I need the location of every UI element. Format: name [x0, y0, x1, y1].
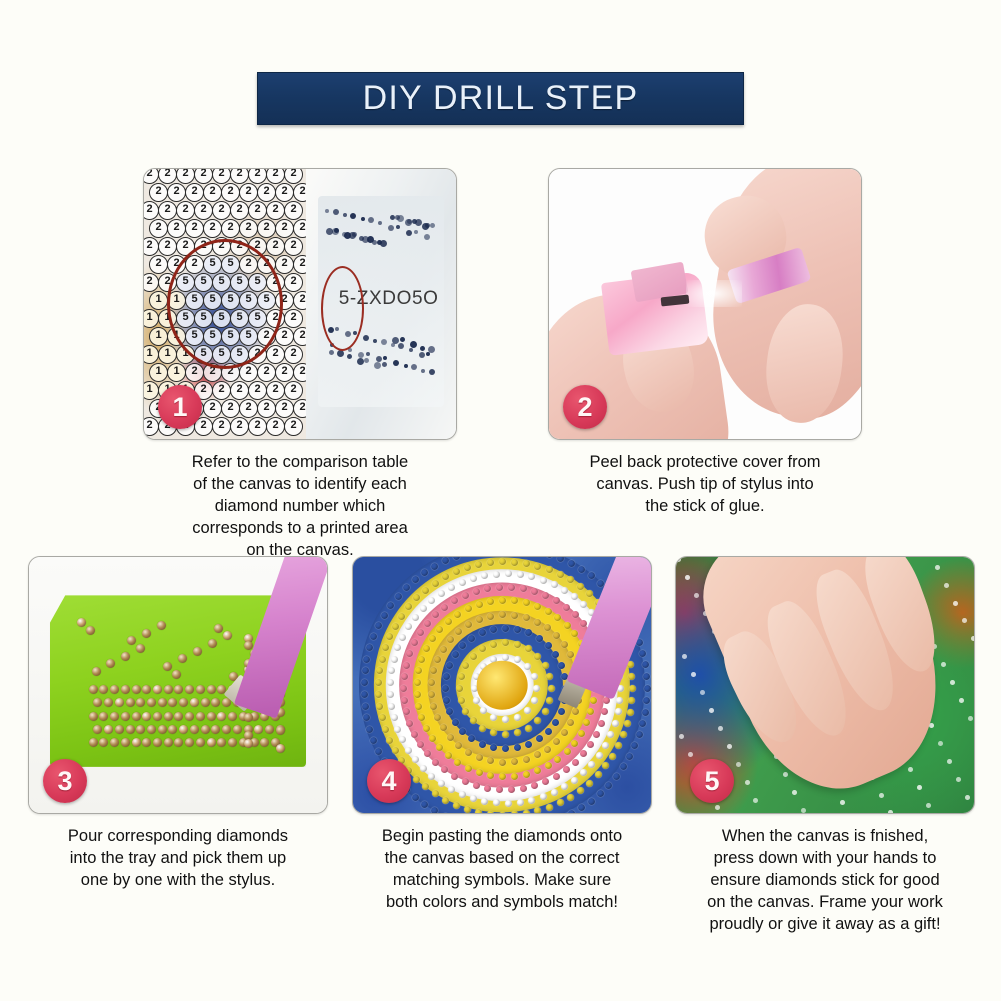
- step-3-photo: 3: [28, 556, 328, 814]
- step-card-3: 3 Pour corresponding diamonds into the t…: [28, 556, 328, 891]
- mandala-bead: [429, 635, 436, 642]
- diamond-drill: [104, 725, 113, 734]
- diamond-speck: [736, 762, 741, 767]
- mandala-bead: [414, 679, 421, 686]
- mandala-bead: [568, 560, 575, 567]
- mandala-bead: [382, 726, 389, 733]
- mandala-bead: [412, 576, 419, 583]
- drill-bead: [383, 356, 387, 360]
- mandala-bead: [612, 720, 619, 727]
- drill-bead: [329, 350, 334, 355]
- canvas-symbol-dot: 2: [158, 169, 177, 184]
- canvas-symbol-dot: 2: [275, 183, 294, 202]
- step-number-3: 3: [57, 768, 72, 795]
- drill-bead: [409, 348, 413, 352]
- step-number-1: 1: [172, 394, 187, 421]
- drill-bead: [380, 240, 387, 247]
- mandala-bead: [420, 605, 427, 612]
- diamond-drill: [185, 712, 194, 721]
- mandala-bead: [644, 685, 651, 692]
- drill-bead: [334, 228, 339, 233]
- diamond-drill: [208, 639, 217, 648]
- mandala-bead: [442, 557, 449, 564]
- canvas-symbol-dot: 2: [221, 399, 240, 418]
- mandala-center-gem: [477, 661, 528, 710]
- mandala-bead: [557, 571, 564, 578]
- diamond-drill: [132, 712, 141, 721]
- diamond-speck: [745, 780, 750, 785]
- mandala-bead: [502, 625, 509, 632]
- mandala-bead: [499, 759, 506, 766]
- mandala-bead: [561, 587, 568, 594]
- mandala-bead: [459, 791, 466, 798]
- mandala-bead: [514, 744, 521, 751]
- mandala-bead: [417, 741, 424, 748]
- step-1-caption: Refer to the comparison table of the can…: [143, 451, 457, 562]
- canvas-symbol-dot: 2: [212, 381, 231, 400]
- mandala-bead: [432, 580, 439, 587]
- drill-bead: [420, 346, 425, 351]
- canvas-symbol-dot: 1: [144, 381, 159, 400]
- diamond-drill: [196, 685, 205, 694]
- canvas-symbol-dot: 2: [284, 345, 303, 364]
- drill-bead: [343, 213, 347, 217]
- mandala-bead: [511, 559, 518, 566]
- diamond-drill: [142, 712, 151, 721]
- mandala-bead: [465, 749, 472, 756]
- mandala-bead: [624, 720, 631, 727]
- step-4-photo: 4: [352, 556, 652, 814]
- mandala-bead: [403, 584, 410, 591]
- mandala-bead: [557, 557, 564, 562]
- mandala-bead: [502, 731, 509, 738]
- mandala-bead: [511, 773, 518, 780]
- drill-bead: [361, 217, 365, 221]
- diamond-speck: [753, 798, 758, 803]
- step-3-caption: Pour corresponding diamonds into the tra…: [28, 825, 328, 891]
- drill-bag-image: 5-ZXDO5O: [306, 169, 456, 439]
- drill-bead: [410, 341, 417, 348]
- mandala-bead: [523, 771, 530, 778]
- diamond-drill: [115, 725, 124, 734]
- mandala-bead: [476, 601, 483, 608]
- mandala-bead: [536, 735, 543, 742]
- mandala-bead: [431, 807, 438, 813]
- mandala-bead: [490, 626, 497, 633]
- drill-bead: [391, 343, 395, 347]
- canvas-symbol-dot: 2: [212, 201, 231, 220]
- canvas-symbol-dot: 2: [144, 237, 159, 256]
- mandala-bead: [523, 810, 530, 813]
- diamond-speck: [908, 767, 913, 772]
- mandala-bead: [533, 685, 540, 692]
- mandala-bead: [514, 641, 521, 648]
- mandala-bead: [572, 611, 579, 618]
- mandala-bead: [391, 714, 398, 721]
- drill-bead: [414, 230, 418, 234]
- step-card-5: 5 When the canvas is fnished, press down…: [675, 556, 975, 936]
- mandala-bead: [627, 709, 634, 716]
- mandala-bead: [642, 661, 649, 668]
- mandala-bead: [493, 571, 500, 578]
- mandala-bead: [578, 804, 585, 811]
- mandala-bead: [379, 656, 386, 663]
- mandala-bead: [546, 697, 553, 704]
- mandala-bead: [395, 593, 402, 600]
- mandala-bead: [545, 728, 552, 735]
- mandala-bead: [511, 597, 518, 604]
- mandala-bead: [399, 634, 406, 641]
- canvas-symbol-dot: 2: [144, 417, 159, 436]
- drill-bead: [415, 219, 422, 226]
- mandala-bead: [413, 776, 420, 783]
- mandala-bead: [643, 673, 650, 680]
- canvas-symbol-dot: 2: [266, 201, 285, 220]
- mandala-bead: [514, 729, 521, 736]
- mandala-bead: [523, 756, 530, 763]
- step-card-2: 2 Peel back protective cover from canvas…: [548, 168, 862, 517]
- drill-bead: [333, 209, 339, 215]
- mandala-bead: [447, 636, 454, 643]
- mandala-bead: [557, 799, 564, 806]
- diamond-drill: [214, 624, 223, 633]
- mandala-bead: [580, 620, 587, 627]
- diamond-speck: [971, 636, 974, 641]
- canvas-symbol-dot: 2: [221, 183, 240, 202]
- step-5-caption: When the canvas is fnished, press down w…: [675, 825, 975, 936]
- diamond-speck: [688, 752, 693, 757]
- mandala-bead: [511, 758, 518, 765]
- canvas-symbol-dot: 2: [284, 273, 303, 292]
- diamond-drill: [244, 739, 253, 748]
- canvas-symbol-dot: 2: [266, 417, 285, 436]
- drill-bead: [393, 360, 399, 366]
- diamond-speck: [888, 810, 893, 813]
- mandala-bead: [511, 811, 518, 813]
- mandala-bead: [440, 724, 447, 731]
- diamond-drill: [153, 685, 162, 694]
- mandala-bead: [459, 728, 466, 735]
- diamond-speck: [962, 618, 967, 623]
- diamond-speck: [968, 716, 973, 721]
- canvas-symbol-dot: 2: [257, 219, 276, 238]
- mandala-bead: [523, 599, 530, 606]
- canvas-symbol-dot: 2: [144, 169, 159, 184]
- mandala-bead: [508, 584, 515, 591]
- diamond-drill: [207, 685, 216, 694]
- step-1-photo: 2222222222222222222222222222222222222222…: [143, 168, 457, 440]
- mandala-bead: [424, 620, 431, 627]
- mandala-bead: [465, 765, 472, 772]
- mandala-bead: [462, 592, 469, 599]
- drill-bead: [381, 339, 387, 345]
- diamond-speck: [959, 698, 964, 703]
- drill-bead: [424, 234, 430, 240]
- diamond-drill: [223, 631, 232, 640]
- mandala-bead: [420, 765, 427, 772]
- mandala-bead: [401, 697, 408, 704]
- diamond-drill: [193, 647, 202, 656]
- canvas-symbol-dot: 2: [158, 201, 177, 220]
- canvas-symbol-dot: 2: [275, 363, 294, 382]
- mandala-bead: [523, 560, 530, 567]
- canvas-symbol-dot: 2: [185, 219, 204, 238]
- mandala-bead: [387, 691, 394, 698]
- mandala-bead: [505, 800, 512, 807]
- step-card-1: 2222222222222222222222222222222222222222…: [143, 168, 457, 562]
- mandala-bead: [597, 790, 604, 797]
- mandala-bead: [414, 691, 421, 698]
- canvas-symbol-dot: 2: [167, 219, 186, 238]
- mandala-bead: [479, 725, 486, 732]
- diamond-speck: [715, 805, 720, 810]
- canvas-symbol-dot: 1: [167, 363, 186, 382]
- mandala-bead: [558, 708, 565, 715]
- mandala-bead: [517, 571, 524, 578]
- mandala-bead: [446, 662, 453, 669]
- canvas-symbol-dot: 2: [266, 345, 285, 364]
- mandala-bead: [629, 685, 636, 692]
- mandala-bead: [531, 588, 538, 595]
- diamond-speck: [965, 795, 970, 800]
- drill-bead: [388, 225, 394, 231]
- drill-bead: [430, 223, 435, 228]
- mandala-bead: [642, 709, 649, 716]
- mandala-bead: [548, 685, 555, 692]
- diamond-drill: [196, 712, 205, 721]
- mandala-bead: [545, 762, 552, 769]
- mandala-bead: [546, 804, 553, 811]
- mandala-bead: [639, 720, 646, 727]
- diamond-speck: [840, 800, 845, 805]
- drill-bead: [367, 236, 374, 243]
- diamond-drill: [110, 685, 119, 694]
- canvas-symbol-dot: 2: [248, 201, 267, 220]
- diamond-drill: [217, 712, 226, 721]
- canvas-symbol-dot: 1: [149, 327, 168, 346]
- mandala-bead: [577, 583, 584, 590]
- diamond-speck: [685, 575, 690, 580]
- diamond-drill: [86, 626, 95, 635]
- mandala-bead: [480, 707, 487, 714]
- canvas-symbol-dot: 2: [230, 201, 249, 220]
- diamond-drill: [172, 670, 181, 679]
- canvas-symbol-dot: 1: [149, 291, 168, 310]
- mandala-bead: [593, 731, 600, 738]
- step-number-badge-4: 4: [367, 759, 411, 803]
- mandala-bead: [598, 720, 605, 727]
- diamond-drill: [201, 698, 210, 707]
- canvas-symbol-dot: 2: [266, 237, 285, 256]
- mandala-bead: [490, 714, 497, 721]
- mandala-bead: [502, 716, 509, 723]
- drill-bead: [421, 369, 425, 373]
- mandala-bead: [445, 618, 452, 625]
- glue-highlight: [686, 280, 742, 307]
- diamond-speck: [718, 726, 723, 731]
- mandala-bead: [438, 590, 445, 597]
- mandala-bead: [534, 807, 541, 813]
- page-title-banner: DIY DRILL STEP: [257, 72, 744, 125]
- mandala-bead: [405, 747, 412, 754]
- mandala-bead: [458, 697, 465, 704]
- diamond-drill: [121, 712, 130, 721]
- canvas-symbol-dot: 2: [266, 381, 285, 400]
- canvas-symbol-dot: 2: [257, 183, 276, 202]
- mandala-bead: [531, 697, 538, 704]
- mandala-bead: [412, 794, 419, 801]
- mandala-bead: [442, 797, 449, 804]
- diamond-drill: [164, 738, 173, 747]
- step-number-2: 2: [577, 394, 592, 421]
- diamond-drill: [121, 685, 130, 694]
- mandala-bead: [496, 584, 503, 591]
- diamond-speck: [947, 759, 952, 764]
- mandala-bead: [609, 753, 616, 760]
- canvas-symbol-dot: 2: [176, 201, 195, 220]
- diamond-drill: [201, 725, 210, 734]
- canvas-symbol-dot: 2: [194, 201, 213, 220]
- step-4-caption: Begin pasting the diamonds onto the canv…: [352, 825, 652, 913]
- diamond-drill: [163, 662, 172, 671]
- diamond-speck: [953, 601, 958, 606]
- mandala-bead: [613, 773, 620, 780]
- diamond-drill: [207, 712, 216, 721]
- canvas-symbol-dot: 1: [158, 345, 177, 364]
- step-card-4: 4 Begin pasting the diamonds onto the ca…: [352, 556, 652, 913]
- canvas-symbol-dot: 2: [284, 201, 303, 220]
- mandala-bead: [375, 748, 382, 755]
- mandala-bead: [590, 697, 597, 704]
- mandala-bead: [470, 575, 477, 582]
- diamond-speck: [709, 708, 714, 713]
- mandala-bead: [596, 752, 603, 759]
- canvas-symbol-dot: 2: [275, 255, 294, 274]
- mandala-bead: [362, 667, 369, 674]
- mandala-bead: [552, 719, 559, 726]
- mandala-bead: [536, 635, 543, 642]
- mandala-bead: [542, 662, 549, 669]
- diamond-drill: [121, 738, 130, 747]
- mandala-bead: [534, 619, 541, 626]
- diamond-drill: [132, 738, 141, 747]
- diamond-drill: [142, 629, 151, 638]
- mandala-bead: [546, 566, 553, 573]
- mandala-bead: [561, 641, 568, 648]
- mandala-bead: [458, 673, 465, 680]
- diamond-drill: [147, 725, 156, 734]
- mandala-bead: [447, 734, 454, 741]
- mandala-bead: [643, 697, 650, 704]
- mandala-bead: [597, 580, 604, 587]
- canvas-symbol-dot: 2: [144, 273, 159, 292]
- canvas-symbol-dot: 2: [176, 169, 195, 184]
- diamond-speck: [691, 672, 696, 677]
- mandala-bead: [525, 725, 532, 732]
- mandala-bead: [451, 773, 458, 780]
- drill-bead: [382, 362, 387, 367]
- diamond-drill: [228, 712, 237, 721]
- canvas-symbol-dot: 2: [194, 169, 213, 184]
- mandala-bead: [580, 601, 587, 608]
- mandala-bead: [465, 605, 472, 612]
- mandala-bead: [587, 741, 594, 748]
- mandala-bead: [588, 798, 595, 805]
- canvas-symbol-dot: 2: [275, 399, 294, 418]
- drill-bead: [400, 337, 405, 342]
- drill-bead: [352, 232, 357, 237]
- mandala-bead: [636, 731, 643, 738]
- diamond-speck: [950, 680, 955, 685]
- diamond-drill: [164, 712, 173, 721]
- diamond-drill: [153, 712, 162, 721]
- mandala-bead: [453, 802, 460, 809]
- canvas-symbol-dot: 2: [167, 183, 186, 202]
- diamond-drill: [126, 725, 135, 734]
- drill-bead: [411, 364, 417, 370]
- canvas-symbol-dot: 2: [212, 169, 231, 184]
- diamond-speck: [926, 803, 931, 808]
- mandala-bead: [470, 717, 477, 724]
- drill-bead: [374, 362, 381, 369]
- mandala-bead: [479, 741, 486, 748]
- mandala-bead: [443, 697, 450, 704]
- mandala-bead: [568, 810, 575, 813]
- mandala-bead: [564, 622, 571, 629]
- diamond-speck: [944, 583, 949, 588]
- diamond-speck: [938, 741, 943, 746]
- mandala-bead: [499, 597, 506, 604]
- diamond-drill: [164, 685, 173, 694]
- diamond-speck: [682, 654, 687, 659]
- mandala-bead: [551, 789, 558, 796]
- mandala-bead: [553, 773, 560, 780]
- diamond-speck: [941, 662, 946, 667]
- mandala-bead: [520, 585, 527, 592]
- drill-bead: [404, 364, 408, 368]
- mandala-bead: [578, 566, 585, 573]
- mandala-bead: [553, 597, 560, 604]
- mandala-bead: [452, 719, 459, 726]
- step-number-badge-2: 2: [563, 385, 607, 429]
- diamond-speck: [694, 593, 699, 598]
- diy-drill-step-infographic: DIY DRILL STEP 2222222222222222222222222…: [0, 0, 1001, 1001]
- mandala-bead: [392, 623, 399, 630]
- mandala-bead: [544, 746, 551, 753]
- mandala-bead: [531, 673, 538, 680]
- canvas-symbol-dot: 2: [158, 237, 177, 256]
- mandala-bead: [403, 662, 410, 669]
- mandala-bead: [514, 714, 521, 721]
- diamond-drill: [89, 685, 98, 694]
- canvas-symbol-dot: 2: [239, 399, 258, 418]
- canvas-symbol-dot: 1: [144, 309, 159, 328]
- diamond-drill: [265, 725, 274, 734]
- diamond-speck: [676, 557, 681, 562]
- drill-bead: [350, 213, 356, 219]
- mandala-bead: [464, 806, 471, 813]
- mandala-bead: [412, 614, 419, 621]
- mandala-bead: [639, 650, 646, 657]
- diamond-drill: [89, 712, 98, 721]
- canvas-symbol-dot: 2: [248, 381, 267, 400]
- mandala-bead: [442, 685, 449, 692]
- canvas-symbol-dot: 2: [144, 201, 159, 220]
- mandala-bead: [443, 673, 450, 680]
- drill-bead: [376, 356, 382, 362]
- diamond-speck: [879, 793, 884, 798]
- drill-bead: [419, 352, 425, 358]
